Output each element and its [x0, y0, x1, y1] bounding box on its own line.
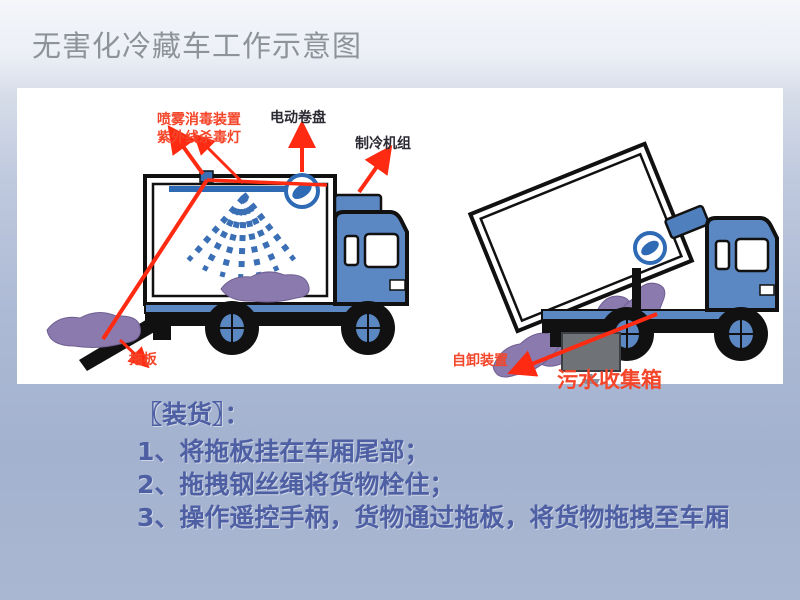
instruction-step-2: 2、拖拽钢丝绳将货物栓住；: [137, 468, 797, 501]
cab-windshield-right: [736, 239, 768, 271]
label-electric-reel: 电动卷盘: [270, 110, 326, 126]
electric-reel-icon: [286, 175, 318, 207]
left-truck: [47, 171, 407, 371]
right-truck: [470, 144, 777, 384]
right-truck-front-wheel: [714, 307, 768, 361]
label-sewage-collection-box: 污水收集箱: [557, 368, 662, 392]
cab-headlight-right: [760, 285, 774, 295]
label-spray-disinfect-line1: 喷雾消毒装置: [157, 112, 241, 128]
label-refrigeration-unit: 制冷机组: [355, 136, 411, 152]
label-drag-board: 拖板: [129, 352, 157, 368]
cab-headlight: [390, 280, 405, 290]
instruction-step-3: 3、操作遥控手柄，货物通过拖板，将货物拖拽至车厢: [137, 501, 797, 534]
cab-side-window: [345, 236, 358, 265]
left-truck-front-wheel: [341, 301, 395, 355]
page-title: 无害化冷藏车工作示意图: [32, 26, 362, 66]
label-self-dump-device: 自卸装置: [452, 353, 508, 369]
left-truck-rear-wheel: [205, 301, 259, 355]
carcass-on-ground: [47, 312, 140, 347]
instructions-heading: 〖装货〗：: [137, 398, 797, 431]
electric-reel-icon-right: [635, 233, 665, 263]
label-spray-disinfect-line2: 紫外线杀毒灯: [157, 130, 241, 146]
tipping-ram: [632, 268, 641, 313]
loading-instructions: 〖装货〗： 1、将拖板挂在车厢尾部； 2、拖拽钢丝绳将货物栓住； 3、操作遥控手…: [137, 398, 797, 534]
diagram-panel: 喷雾消毒装置 紫外线杀毒灯 电动卷盘 制冷机组 拖板 自卸装置 污水收集箱: [17, 88, 783, 384]
slide-canvas: 无害化冷藏车工作示意图: [0, 0, 800, 600]
instruction-step-1: 1、将拖板挂在车厢尾部；: [137, 435, 797, 468]
cab-windshield: [365, 234, 398, 267]
cab-side-window-right: [716, 241, 729, 269]
refrigerated-truck-diagram: [17, 88, 783, 384]
